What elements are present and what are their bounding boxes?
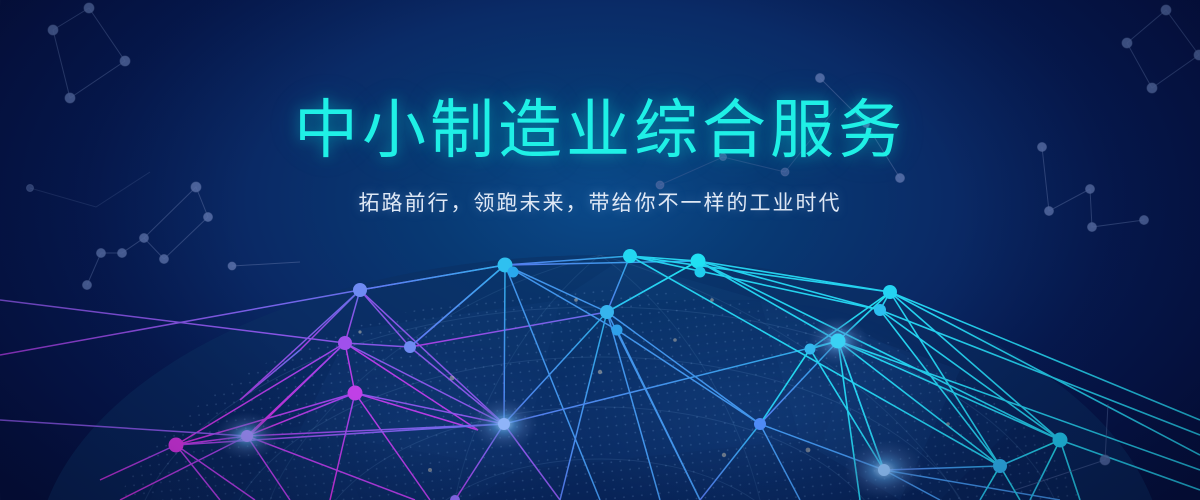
constellation-top-right <box>1122 5 1200 93</box>
constellation-right-lower <box>1038 143 1149 232</box>
constellation-top-left <box>48 3 130 103</box>
background-constellations <box>0 0 1200 500</box>
hero-banner: 中小制造业综合服务 拓路前行，领跑未来，带给你不一样的工业时代 <box>0 0 1200 500</box>
constellation-upper-mid <box>816 74 905 183</box>
constellation-lower-left-sky <box>27 172 151 207</box>
constellation-left-edge <box>228 262 300 270</box>
constellation-bottom-right <box>1015 404 1110 490</box>
constellation-behind-headline <box>656 108 836 189</box>
constellation-left-dipper <box>83 182 213 290</box>
